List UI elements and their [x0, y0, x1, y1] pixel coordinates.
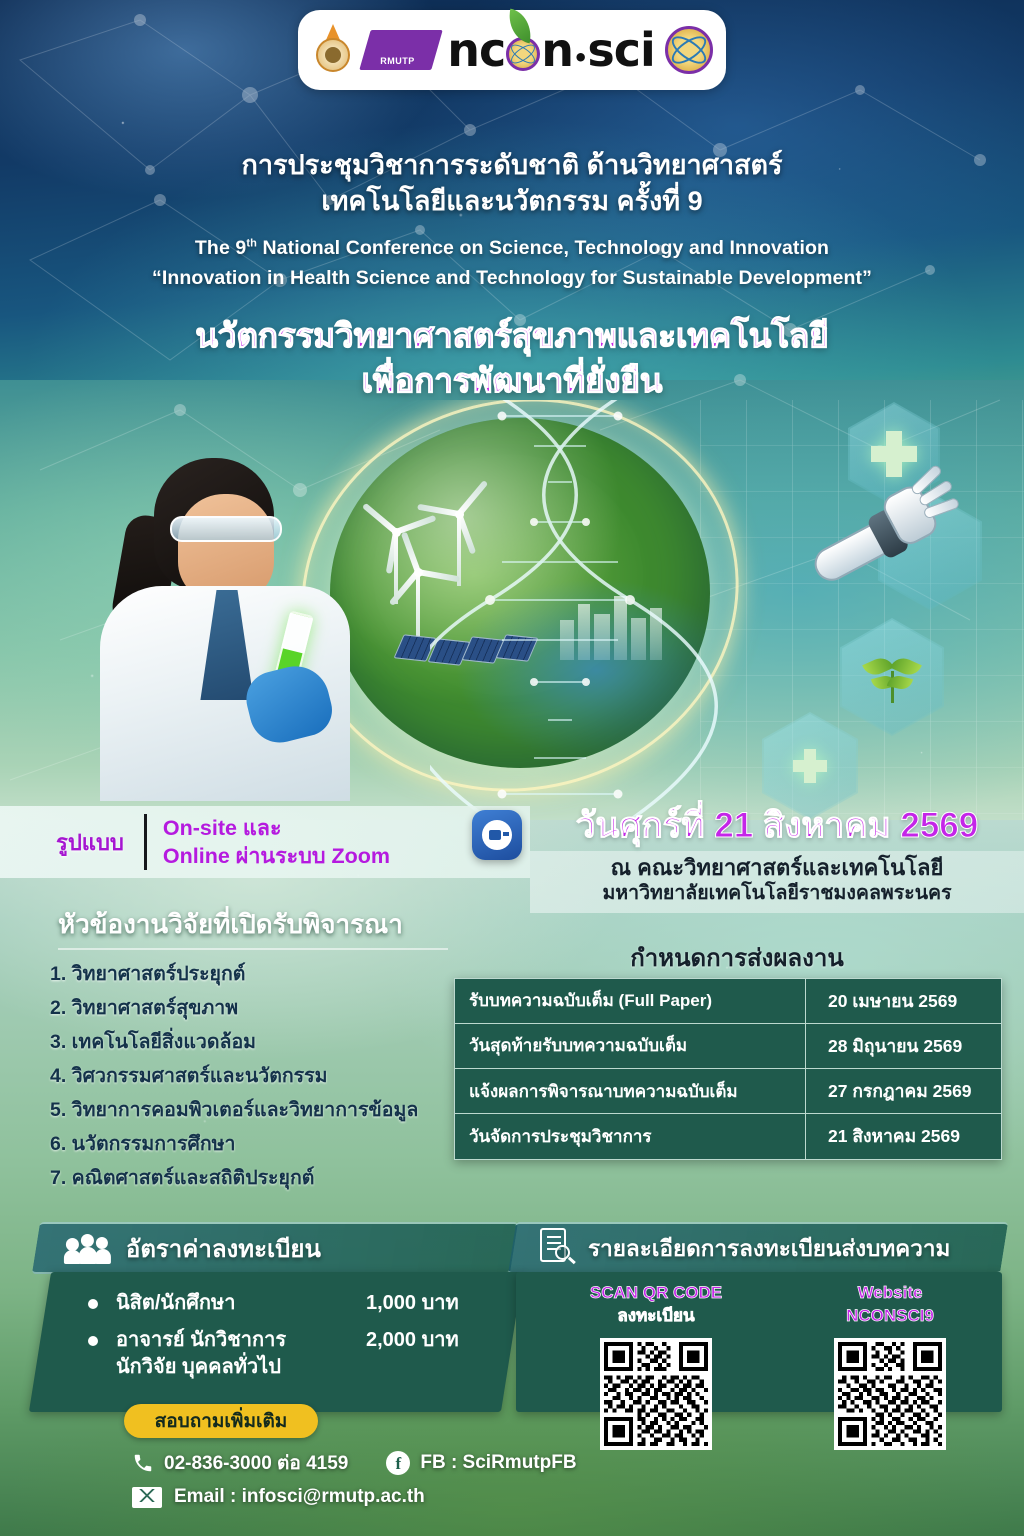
royal-garuda-seal-icon	[311, 24, 355, 76]
deadline-label: รับบทความฉบับเต็ม (Full Paper)	[455, 979, 806, 1024]
registration-heading-bar: รายละเอียดการลงทะเบียนส่งบทความ	[508, 1222, 1008, 1274]
science-atom-seal-icon	[665, 26, 713, 74]
deadline-label: วันจัดการประชุมวิชาการ	[455, 1114, 806, 1159]
health-cross-icon	[793, 749, 827, 783]
list-item: 6. นวัตกรรมการศึกษา	[50, 1135, 500, 1155]
email-address: Email : infosci@rmutp.ac.th	[174, 1486, 425, 1508]
qr-code-register[interactable]	[600, 1338, 712, 1450]
topics-heading: หัวข้องานวิจัยที่เปิดรับพิจารณา	[0, 904, 403, 945]
venue-faculty: ณ คณะวิทยาศาสตร์และเทคโนโลยี	[538, 855, 1016, 882]
list-item: 1. วิทยาศาสตร์ประยุกต์	[50, 965, 500, 985]
ask-more-button[interactable]: สอบถามเพิ่มเติม	[124, 1404, 318, 1438]
list-item: 7. คณิตศาสตร์และสถิติประยุกต์	[50, 1169, 500, 1189]
fees-heading: อัตราค่าลงทะเบียน	[126, 1229, 321, 1268]
deadline-label: แจ้งผลการพิจารณาบทความฉบับเต็ม	[455, 1069, 806, 1114]
phone-number: 02-836-3000 ต่อ 4159	[164, 1448, 348, 1478]
zoom-video-icon	[472, 810, 522, 860]
phone-icon	[132, 1452, 154, 1474]
fees-heading-bar: อัตราค่าลงทะเบียน	[32, 1222, 518, 1274]
facebook-icon[interactable]: f	[386, 1451, 410, 1475]
deadline-date: 28 มิถุนายน 2569	[806, 1024, 1002, 1069]
people-group-icon	[64, 1233, 112, 1263]
table-row: วันสุดท้ายรับบทความฉบับเต็ม 28 มิถุนายน …	[455, 1024, 1002, 1069]
table-row: วันจัดการประชุมวิชาการ 21 สิงหาคม 2569	[455, 1114, 1002, 1159]
format-band: รูปแบบ On-site และ Online ผ่านระบบ Zoom	[0, 806, 530, 878]
list-item: นิสิต/นักศึกษา 1,000 บาท	[88, 1290, 512, 1317]
deadlines-heading: กำหนดการส่งผลงาน	[630, 945, 843, 972]
table-row: รับบทความฉบับเต็ม (Full Paper) 20 เมษายน…	[455, 979, 1002, 1024]
fee-amount: 2,000 บาท	[366, 1327, 459, 1354]
plant-sprout-icon	[864, 649, 920, 705]
format-line2: Online ผ่านระบบ Zoom	[163, 843, 390, 869]
theme-line2: เพื่อการพัฒนาที่ยั่งยืน	[0, 360, 1024, 403]
safety-goggles-icon	[170, 516, 282, 542]
venue-university: มหาวิทยาลัยเทคโนโลยีราชมงคลพระนคร	[538, 882, 1016, 906]
topics-list: 1. วิทยาศาสตร์ประยุกต์ 2. วิทยาศาสตร์สุข…	[50, 965, 500, 1203]
deadline-date: 20 เมษายน 2569	[806, 979, 1002, 1024]
date-venue-block: วันศุกร์ที่ 21 สิงหาคม 2569 ณ คณะวิทยาศา…	[530, 806, 1024, 913]
logo-bar: RMUTP ncn•sci	[298, 10, 726, 90]
rmutp-badge-label: RMUTP	[380, 56, 415, 70]
qr-register-column: SCAN QR CODE ลงทะเบียน	[556, 1282, 756, 1450]
english-title-line2: “Innovation in Health Science and Techno…	[0, 265, 1024, 293]
envelope-icon	[132, 1487, 162, 1508]
bullet-icon	[88, 1336, 98, 1346]
qr-register-caption-2: ลงทะเบียน	[556, 1305, 756, 1328]
qr-code-website[interactable]	[834, 1338, 946, 1450]
format-line1: On-site และ	[163, 815, 390, 841]
dna-helix	[430, 400, 730, 820]
facebook-handle: FB : SciRmutpFB	[420, 1452, 576, 1474]
qr-website-column: Website NCONSCI9	[790, 1282, 990, 1450]
fee-name: อาจารย์ นักวิชาการ นักวิจัย บุคคลทั่วไป	[116, 1327, 366, 1381]
deadline-date: 27 กรกฎาคม 2569	[806, 1069, 1002, 1114]
fee-amount: 1,000 บาท	[366, 1290, 459, 1317]
list-item: อาจารย์ นักวิชาการ นักวิจัย บุคคลทั่วไป …	[88, 1327, 512, 1381]
list-item: 2. วิทยาศาสตร์สุขภาพ	[50, 999, 500, 1019]
leaf-icon	[504, 9, 536, 44]
ask-more-label: สอบถามเพิ่มเติม	[155, 1406, 288, 1436]
table-row: แจ้งผลการพิจารณาบทความฉบับเต็ม 27 กรกฎาค…	[455, 1069, 1002, 1114]
event-date: วันศุกร์ที่ 21 สิงหาคม 2569	[530, 806, 1024, 845]
format-label: รูปแบบ	[0, 825, 124, 860]
format-divider	[144, 814, 147, 870]
list-item: 5. วิทยาการคอมพิวเตอร์และวิทยาการข้อมูล	[50, 1101, 500, 1121]
rmutp-badge: RMUTP	[359, 30, 442, 70]
atom-icon	[506, 37, 540, 71]
thai-title-line2: เทคโนโลยีและนวัตกรรม ครั้งที่ 9	[0, 184, 1024, 220]
hero-illustration	[0, 400, 1024, 820]
conference-poster: RMUTP ncn•sci การประชุมวิชาการระดับชาติ …	[0, 0, 1024, 1536]
bullet-icon	[88, 1299, 98, 1309]
fees-content: นิสิต/นักศึกษา 1,000 บาท อาจารย์ นักวิชา…	[40, 1272, 512, 1412]
contact-row-email: Email : infosci@rmutp.ac.th	[132, 1486, 425, 1508]
title-block: การประชุมวิชาการระดับชาติ ด้านวิทยาศาสตร…	[0, 148, 1024, 402]
contact-row-phone: 02-836-3000 ต่อ 4159 f FB : SciRmutpFB	[132, 1448, 577, 1478]
deadline-label: วันสุดท้ายรับบทความฉบับเต็ม	[455, 1024, 806, 1069]
document-search-icon	[540, 1228, 574, 1268]
qr-website-caption-1: Website	[790, 1282, 990, 1305]
qr-register-caption-1: SCAN QR CODE	[556, 1282, 756, 1305]
topics-divider	[58, 948, 448, 950]
list-item: 4. วิศวกรรมศาสตร์และนวัตกรรม	[50, 1067, 500, 1087]
registration-heading: รายละเอียดการลงทะเบียนส่งบทความ	[588, 1230, 950, 1266]
ordinal-suffix: th	[246, 238, 257, 250]
english-title-line1: The 9th National Conference on Science, …	[0, 235, 1024, 263]
qr-website-caption-2: NCONSCI9	[790, 1305, 990, 1328]
theme-line1: นวัตกรรมวิทยาศาสตร์สุขภาพและเทคโนโลยี	[0, 315, 1024, 358]
topics-heading-bar: หัวข้องานวิจัยที่เปิดรับพิจารณา	[0, 902, 520, 946]
deadlines-heading-bar: กำหนดการส่งผลงาน	[450, 938, 1024, 974]
nconsci-wordmark: ncn•sci	[447, 27, 655, 73]
deadline-date: 21 สิงหาคม 2569	[806, 1114, 1002, 1159]
list-item: 3. เทคโนโลยีสิ่งแวดล้อม	[50, 1033, 500, 1053]
fee-name: นิสิต/นักศึกษา	[116, 1290, 366, 1317]
deadlines-table: รับบทความฉบับเต็ม (Full Paper) 20 เมษายน…	[454, 978, 1002, 1160]
scientist-photo	[82, 458, 372, 798]
thai-title-line1: การประชุมวิชาการระดับชาติ ด้านวิทยาศาสตร…	[0, 148, 1024, 184]
